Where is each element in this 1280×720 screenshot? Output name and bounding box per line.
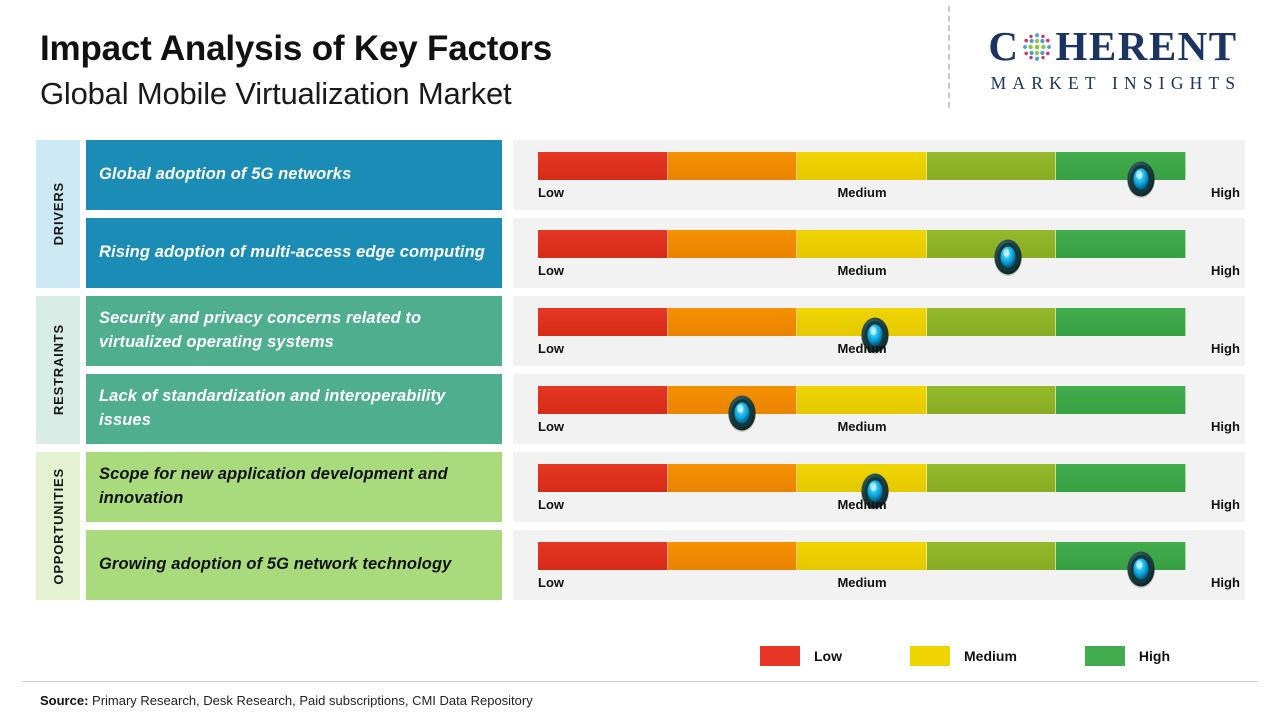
gauge-segment-3 [927,464,1057,492]
gauge-bar[interactable] [538,152,1186,180]
impact-gauge: LowMediumHigh [513,374,1245,444]
factor-row: Rising adoption of multi-access edge com… [0,218,1280,288]
scale-label-high: High [1211,497,1240,512]
factor-label: Rising adoption of multi-access edge com… [99,241,485,265]
title-block: Impact Analysis of Key Factors Global Mo… [40,30,552,112]
gauge-segment-4 [1056,542,1186,570]
factor-box[interactable]: Global adoption of 5G networks [86,140,502,210]
gauge-segment-2 [797,542,927,570]
source-label: Source: [40,693,88,708]
footer-divider [22,681,1258,682]
scale-label-medium: Medium [837,419,886,434]
factor-label: Growing adoption of 5G network technolog… [99,553,451,577]
gauge-bar[interactable] [538,386,1186,414]
gauge-bar[interactable] [538,542,1186,570]
legend-label: Low [814,648,842,664]
globe-dot-sphere-icon [1020,30,1054,64]
legend: LowMediumHigh [760,644,1200,668]
logo-wordmark: C [963,26,1263,67]
category-group-drivers: DRIVERSGlobal adoption of 5G networksLow… [0,140,1280,288]
gauge-segment-3 [927,152,1057,180]
gauge-segment-1 [668,308,798,336]
factor-row: Growing adoption of 5G network technolog… [0,530,1280,600]
legend-label: Medium [964,648,1017,664]
scale-label-high: High [1211,185,1240,200]
scale-label-medium: Medium [837,185,886,200]
gauge-segment-0 [538,308,668,336]
gauge-bar[interactable] [538,464,1186,492]
legend-label: High [1139,648,1170,664]
gauge-segment-0 [538,542,668,570]
gauge-segment-0 [538,152,668,180]
scale-label-medium: Medium [837,575,886,590]
factor-row: Lack of standardization and interoperabi… [0,374,1280,444]
scale-label-high: High [1211,419,1240,434]
impact-gauge: LowMediumHigh [513,296,1245,366]
gauge-scale-labels: LowMediumHigh [538,419,1238,439]
gauge-segment-3 [927,308,1057,336]
scale-label-low: Low [538,419,564,434]
gauge-segment-4 [1056,464,1186,492]
scale-label-high: High [1211,341,1240,356]
coherent-market-insights-logo: C [963,26,1263,94]
factor-box[interactable]: Rising adoption of multi-access edge com… [86,218,502,288]
legend-swatch [1085,646,1125,666]
gauge-scale-labels: LowMediumHigh [538,575,1238,595]
gauge-segment-0 [538,230,668,258]
legend-swatch [910,646,950,666]
factor-row: Global adoption of 5G networksLowMediumH… [0,140,1280,210]
gauge-segment-4 [1056,152,1186,180]
gauge-segment-4 [1056,386,1186,414]
gauge-segment-1 [668,464,798,492]
factor-box[interactable]: Security and privacy concerns related to… [86,296,502,366]
gauge-segment-4 [1056,308,1186,336]
factor-row: Security and privacy concerns related to… [0,296,1280,366]
gauge-segment-0 [538,386,668,414]
factor-row: Scope for new application development an… [0,452,1280,522]
factor-label: Security and privacy concerns related to… [99,307,489,355]
gauge-segment-1 [668,542,798,570]
scale-label-medium: Medium [837,497,886,512]
gauge-segment-1 [668,386,798,414]
factor-label: Lack of standardization and interoperabi… [99,385,489,433]
legend-item: Low [760,646,842,666]
scale-label-low: Low [538,263,564,278]
gauge-scale-labels: LowMediumHigh [538,497,1238,517]
scale-label-low: Low [538,575,564,590]
page-subtitle: Global Mobile Virtualization Market [40,77,552,112]
impact-gauge: LowMediumHigh [513,218,1245,288]
gauge-segment-3 [927,230,1057,258]
gauge-segment-2 [797,308,927,336]
gauge-segment-2 [797,386,927,414]
legend-swatch [760,646,800,666]
gauge-scale-labels: LowMediumHigh [538,263,1238,283]
slide-root: Impact Analysis of Key Factors Global Mo… [0,0,1280,720]
scale-label-medium: Medium [837,341,886,356]
gauge-segment-2 [797,230,927,258]
page-title: Impact Analysis of Key Factors [40,30,552,68]
gauge-segment-1 [668,230,798,258]
gauge-scale-labels: LowMediumHigh [538,185,1238,205]
legend-item: High [1085,646,1170,666]
factor-box[interactable]: Lack of standardization and interoperabi… [86,374,502,444]
scale-label-low: Low [538,341,564,356]
scale-label-medium: Medium [837,263,886,278]
logo-letters-herent: HERENT [1055,26,1237,67]
factor-box[interactable]: Growing adoption of 5G network technolog… [86,530,502,600]
gauge-segment-1 [668,152,798,180]
factor-box[interactable]: Scope for new application development an… [86,452,502,522]
gauge-segment-2 [797,464,927,492]
impact-gauge: LowMediumHigh [513,452,1245,522]
scale-label-low: Low [538,497,564,512]
gauge-segment-3 [927,386,1057,414]
impact-gauge: LowMediumHigh [513,140,1245,210]
header-dashed-divider [948,6,950,108]
scale-label-high: High [1211,575,1240,590]
impact-gauge: LowMediumHigh [513,530,1245,600]
category-group-opportunities: OPPORTUNITIESScope for new application d… [0,452,1280,600]
scale-label-low: Low [538,185,564,200]
factor-label: Global adoption of 5G networks [99,163,351,187]
gauge-scale-labels: LowMediumHigh [538,341,1238,361]
logo-letter-c: C [988,26,1019,67]
scale-label-high: High [1211,263,1240,278]
gauge-segment-0 [538,464,668,492]
gauge-segment-3 [927,542,1057,570]
gauge-bar[interactable] [538,230,1186,258]
factor-label: Scope for new application development an… [99,463,489,511]
gauge-segment-2 [797,152,927,180]
source-text: Primary Research, Desk Research, Paid su… [88,693,532,708]
gauge-bar[interactable] [538,308,1186,336]
logo-tagline: MARKET INSIGHTS [963,73,1263,94]
gauge-segment-4 [1056,230,1186,258]
header: Impact Analysis of Key Factors Global Mo… [0,0,1280,132]
source-note: Source: Primary Research, Desk Research,… [40,693,533,708]
category-group-restraints: RESTRAINTSSecurity and privacy concerns … [0,296,1280,444]
legend-item: Medium [910,646,1017,666]
